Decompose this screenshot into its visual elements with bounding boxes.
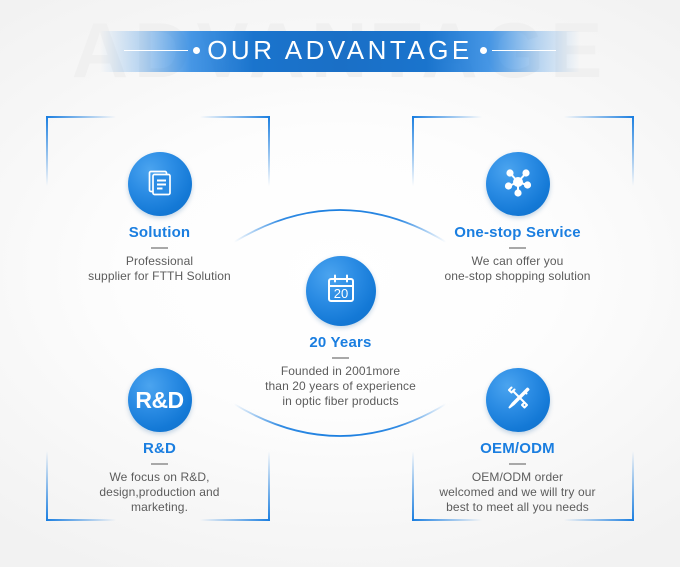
calendar-icon-number: 20 [333, 286, 347, 301]
network-hub-icon [500, 164, 536, 205]
card-rnd: R&D R&D We focus on R&D, design,producti… [52, 368, 267, 515]
oem-odm-icon-circle [486, 368, 550, 432]
title-divider [332, 357, 349, 359]
documents-icon [143, 165, 177, 204]
one-stop-service-icon-circle [486, 152, 550, 216]
card-title: OEM/ODM [410, 441, 625, 458]
card-title: One-stop Service [410, 225, 625, 242]
rnd-icon-circle: R&D [128, 368, 192, 432]
card-title: 20 Years [233, 335, 448, 352]
card-description: OEM/ODM order welcomed and we will try o… [410, 470, 625, 515]
rnd-text-icon: R&D [135, 389, 183, 412]
title-divider [509, 247, 526, 249]
title-dot-right-icon [480, 47, 487, 54]
card-oem-odm: OEM/ODM OEM/ODM order welcomed and we wi… [410, 368, 625, 515]
our-advantage-banner: ADVANTAGE OUR ADVANTAGE [0, 0, 680, 567]
calendar-icon: 20 [321, 269, 361, 314]
title-divider [151, 463, 168, 465]
title-rule-left [124, 50, 188, 51]
pencil-wrench-icon [500, 380, 536, 421]
title-divider [509, 463, 526, 465]
title-divider [151, 247, 168, 249]
card-description: We focus on R&D, design,production and m… [52, 470, 267, 515]
solution-icon-circle [128, 152, 192, 216]
twenty-years-icon-circle: 20 [306, 256, 376, 326]
card-title: R&D [52, 441, 267, 458]
title-rule-right [492, 50, 556, 51]
card-title: Solution [52, 225, 267, 242]
header: ADVANTAGE OUR ADVANTAGE [0, 0, 680, 100]
title-dot-left-icon [193, 47, 200, 54]
page-title: OUR ADVANTAGE [205, 35, 475, 66]
title-row: OUR ADVANTAGE [0, 0, 680, 100]
